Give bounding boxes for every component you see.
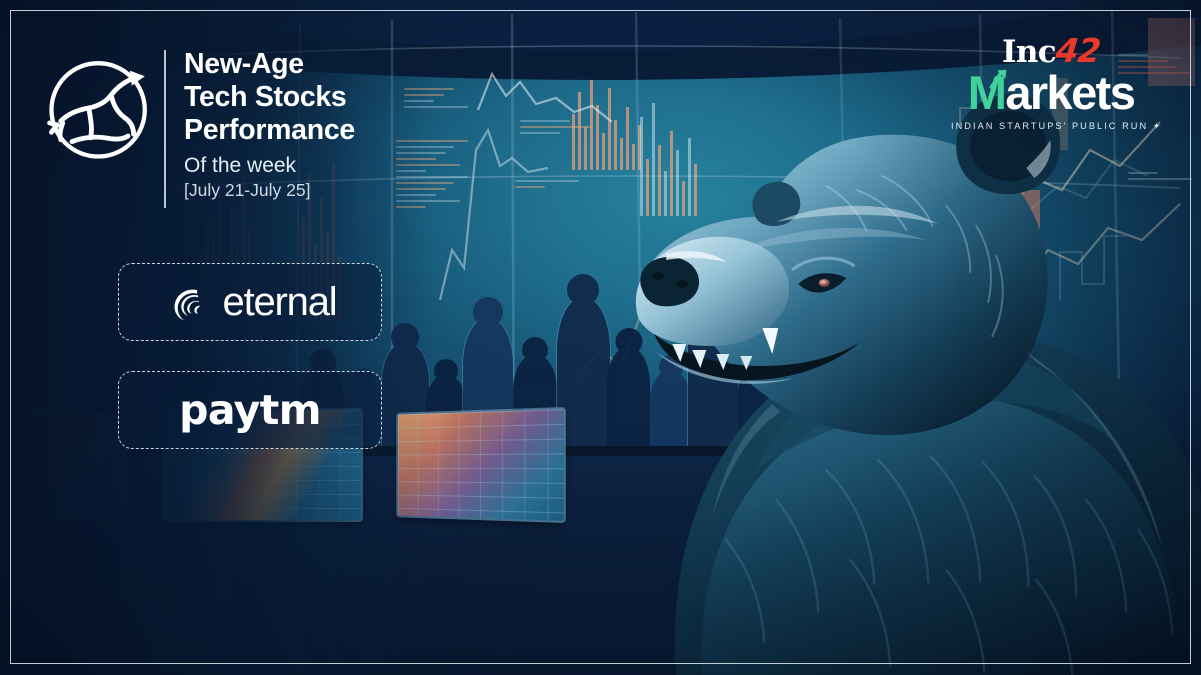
stock-card-list: eternal paytm: [118, 263, 382, 479]
title-divider: [164, 50, 166, 208]
bull-market-icon: [44, 52, 156, 164]
page-subtitle: Of the week: [184, 153, 355, 178]
brand-tagline: INDIAN STARTUPS' PUBLIC RUN ✦: [951, 121, 1151, 132]
paytm-wordmark: paytm: [179, 390, 321, 431]
brand-tagline-text: INDIAN STARTUPS' PUBLIC RUN: [951, 121, 1148, 131]
page-title-line-1: New-Age: [184, 48, 355, 81]
markets-initial: M: [968, 69, 1006, 117]
headline-block: New-Age Tech Stocks Performance Of the w…: [44, 42, 355, 208]
eternal-swirl-icon: [164, 279, 210, 325]
brand-logo: Inc 42 M arkets INDIAN STARTUPS' PUBLIC …: [951, 34, 1151, 132]
up-arrow-icon: [988, 67, 1008, 89]
eternal-logo: eternal: [164, 279, 337, 325]
poster-canvas: New-Age Tech Stocks Performance Of the w…: [0, 0, 1201, 675]
stock-card-eternal[interactable]: eternal: [118, 263, 382, 341]
markets-wordmark: M arkets: [951, 69, 1151, 117]
inc42-accent-text: 42: [1054, 34, 1101, 67]
markets-rest: arkets: [1005, 69, 1134, 117]
title-column: New-Age Tech Stocks Performance Of the w…: [184, 42, 355, 201]
inc42-logo: Inc 42: [951, 34, 1151, 68]
inc-text: Inc: [1002, 37, 1056, 68]
eternal-wordmark: eternal: [223, 282, 337, 322]
stock-card-paytm[interactable]: paytm: [118, 371, 382, 449]
page-title-line-2: Tech Stocks: [184, 81, 355, 114]
brand-tagline-dot: ✦: [1153, 121, 1163, 131]
page-title-line-3: Performance: [184, 114, 355, 147]
date-range: [July 21-July 25]: [184, 180, 355, 201]
